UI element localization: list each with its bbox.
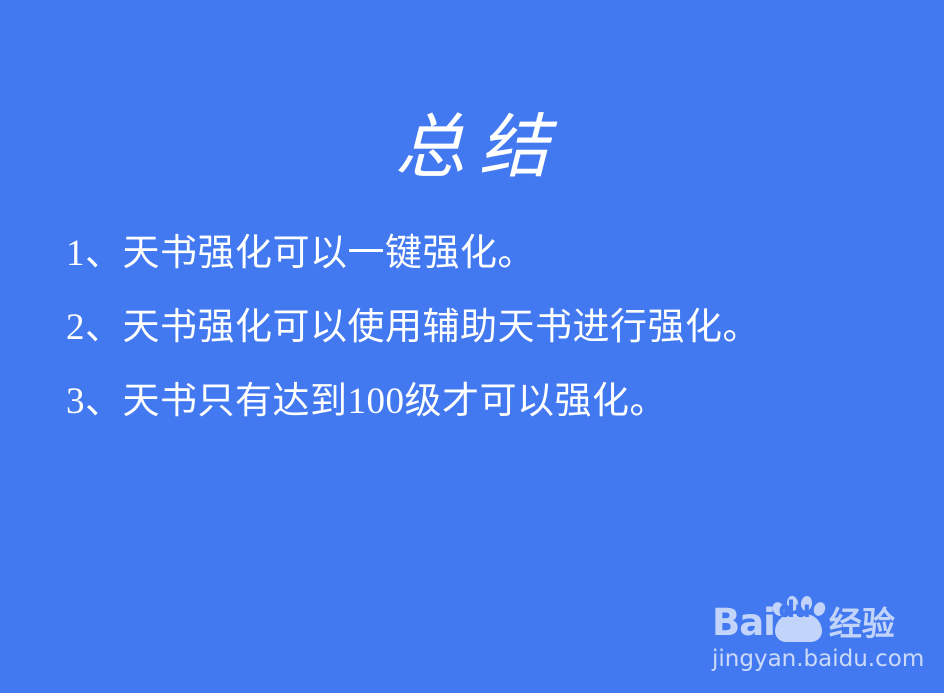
baidu-wordmark-du: du [771,599,818,622]
list-item: 1、天书强化可以一键强化。 [66,232,896,276]
baidu-jingyan-watermark: Bai du 经验 jingyan.baidu.com [712,596,912,684]
list-item: 3、天书只有达到100级才可以强化。 [66,380,896,424]
summary-list: 1、天书强化可以一键强化。 2、天书强化可以使用辅助天书进行强化。 3、天书只有… [66,232,896,424]
jingyan-wordmark-cjk: 经验 [829,606,895,642]
baidu-jingyan-logo: Bai du 经验 [712,596,912,642]
presentation-slide: 总结 1、天书强化可以一键强化。 2、天书强化可以使用辅助天书进行强化。 3、天… [0,0,944,693]
list-item: 2、天书强化可以使用辅助天书进行强化。 [66,306,896,350]
baidu-wordmark-latin: Bai [712,604,775,642]
baidu-paw-icon: du [771,596,825,642]
watermark-url: jingyan.baidu.com [712,646,912,672]
page-title: 总结 [0,109,944,189]
